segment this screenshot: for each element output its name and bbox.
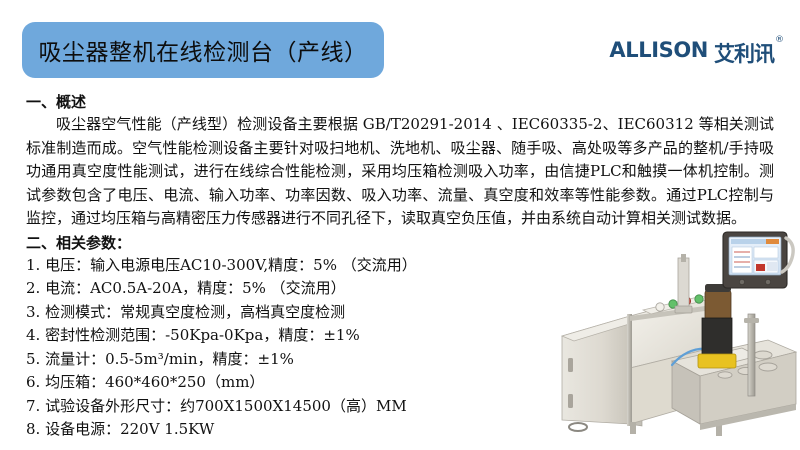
brand-latin-text: ALLISON — [609, 38, 708, 62]
overview-heading: 一、概述 — [26, 92, 774, 112]
list-item: 2. 电流：AC0.5A-20A，精度：5% （交流用） — [26, 277, 546, 301]
hmi-support-post — [748, 314, 755, 396]
parameters-list: 1. 电压：输入电源电压AC10-300V,精度：5% （交流用） 2. 电流：… — [26, 254, 546, 442]
brand-chinese-text: 艾利讯 — [714, 38, 774, 68]
green-button-2-icon — [695, 295, 703, 303]
machine-photograph — [520, 228, 800, 438]
list-item: 1. 电压：输入电源电压AC10-300V,精度：5% （交流用） — [26, 254, 546, 278]
hmi-button-right[interactable] — [765, 279, 770, 284]
list-item: 7. 试验设备外形尺寸：约700X1500X14500（高）MM — [26, 395, 546, 419]
overview-paragraph: 吸尘器空气性能（产线型）检测设备主要根据 GB/T20291-2014 、IEC… — [26, 113, 774, 231]
list-item: 8. 设备电源：220V 1.5KW — [26, 418, 546, 442]
title-banner: 吸尘器整机在线检测台（产线） — [22, 22, 384, 78]
list-item: 6. 均压箱：460*460*250（mm） — [26, 371, 546, 395]
hmi-button-left[interactable] — [739, 279, 744, 284]
white-button-icon — [656, 303, 664, 311]
registered-trademark-icon: ® — [775, 35, 784, 45]
list-item: 3. 检测模式：常规真空度检测，高档真空度检测 — [26, 301, 546, 325]
page-title: 吸尘器整机在线检测台（产线） — [39, 33, 368, 67]
list-item: 4. 密封性检测范围：-50Kpa-0Kpa，精度：±1% — [26, 324, 546, 348]
brand-logo: ALLISON 艾利讯 ® — [609, 38, 784, 68]
list-item: 5. 流量计：0.5-5m³/min，精度：±1% — [26, 348, 546, 372]
page-header: 吸尘器整机在线检测台（产线） ALLISON 艾利讯 ® — [0, 0, 800, 88]
